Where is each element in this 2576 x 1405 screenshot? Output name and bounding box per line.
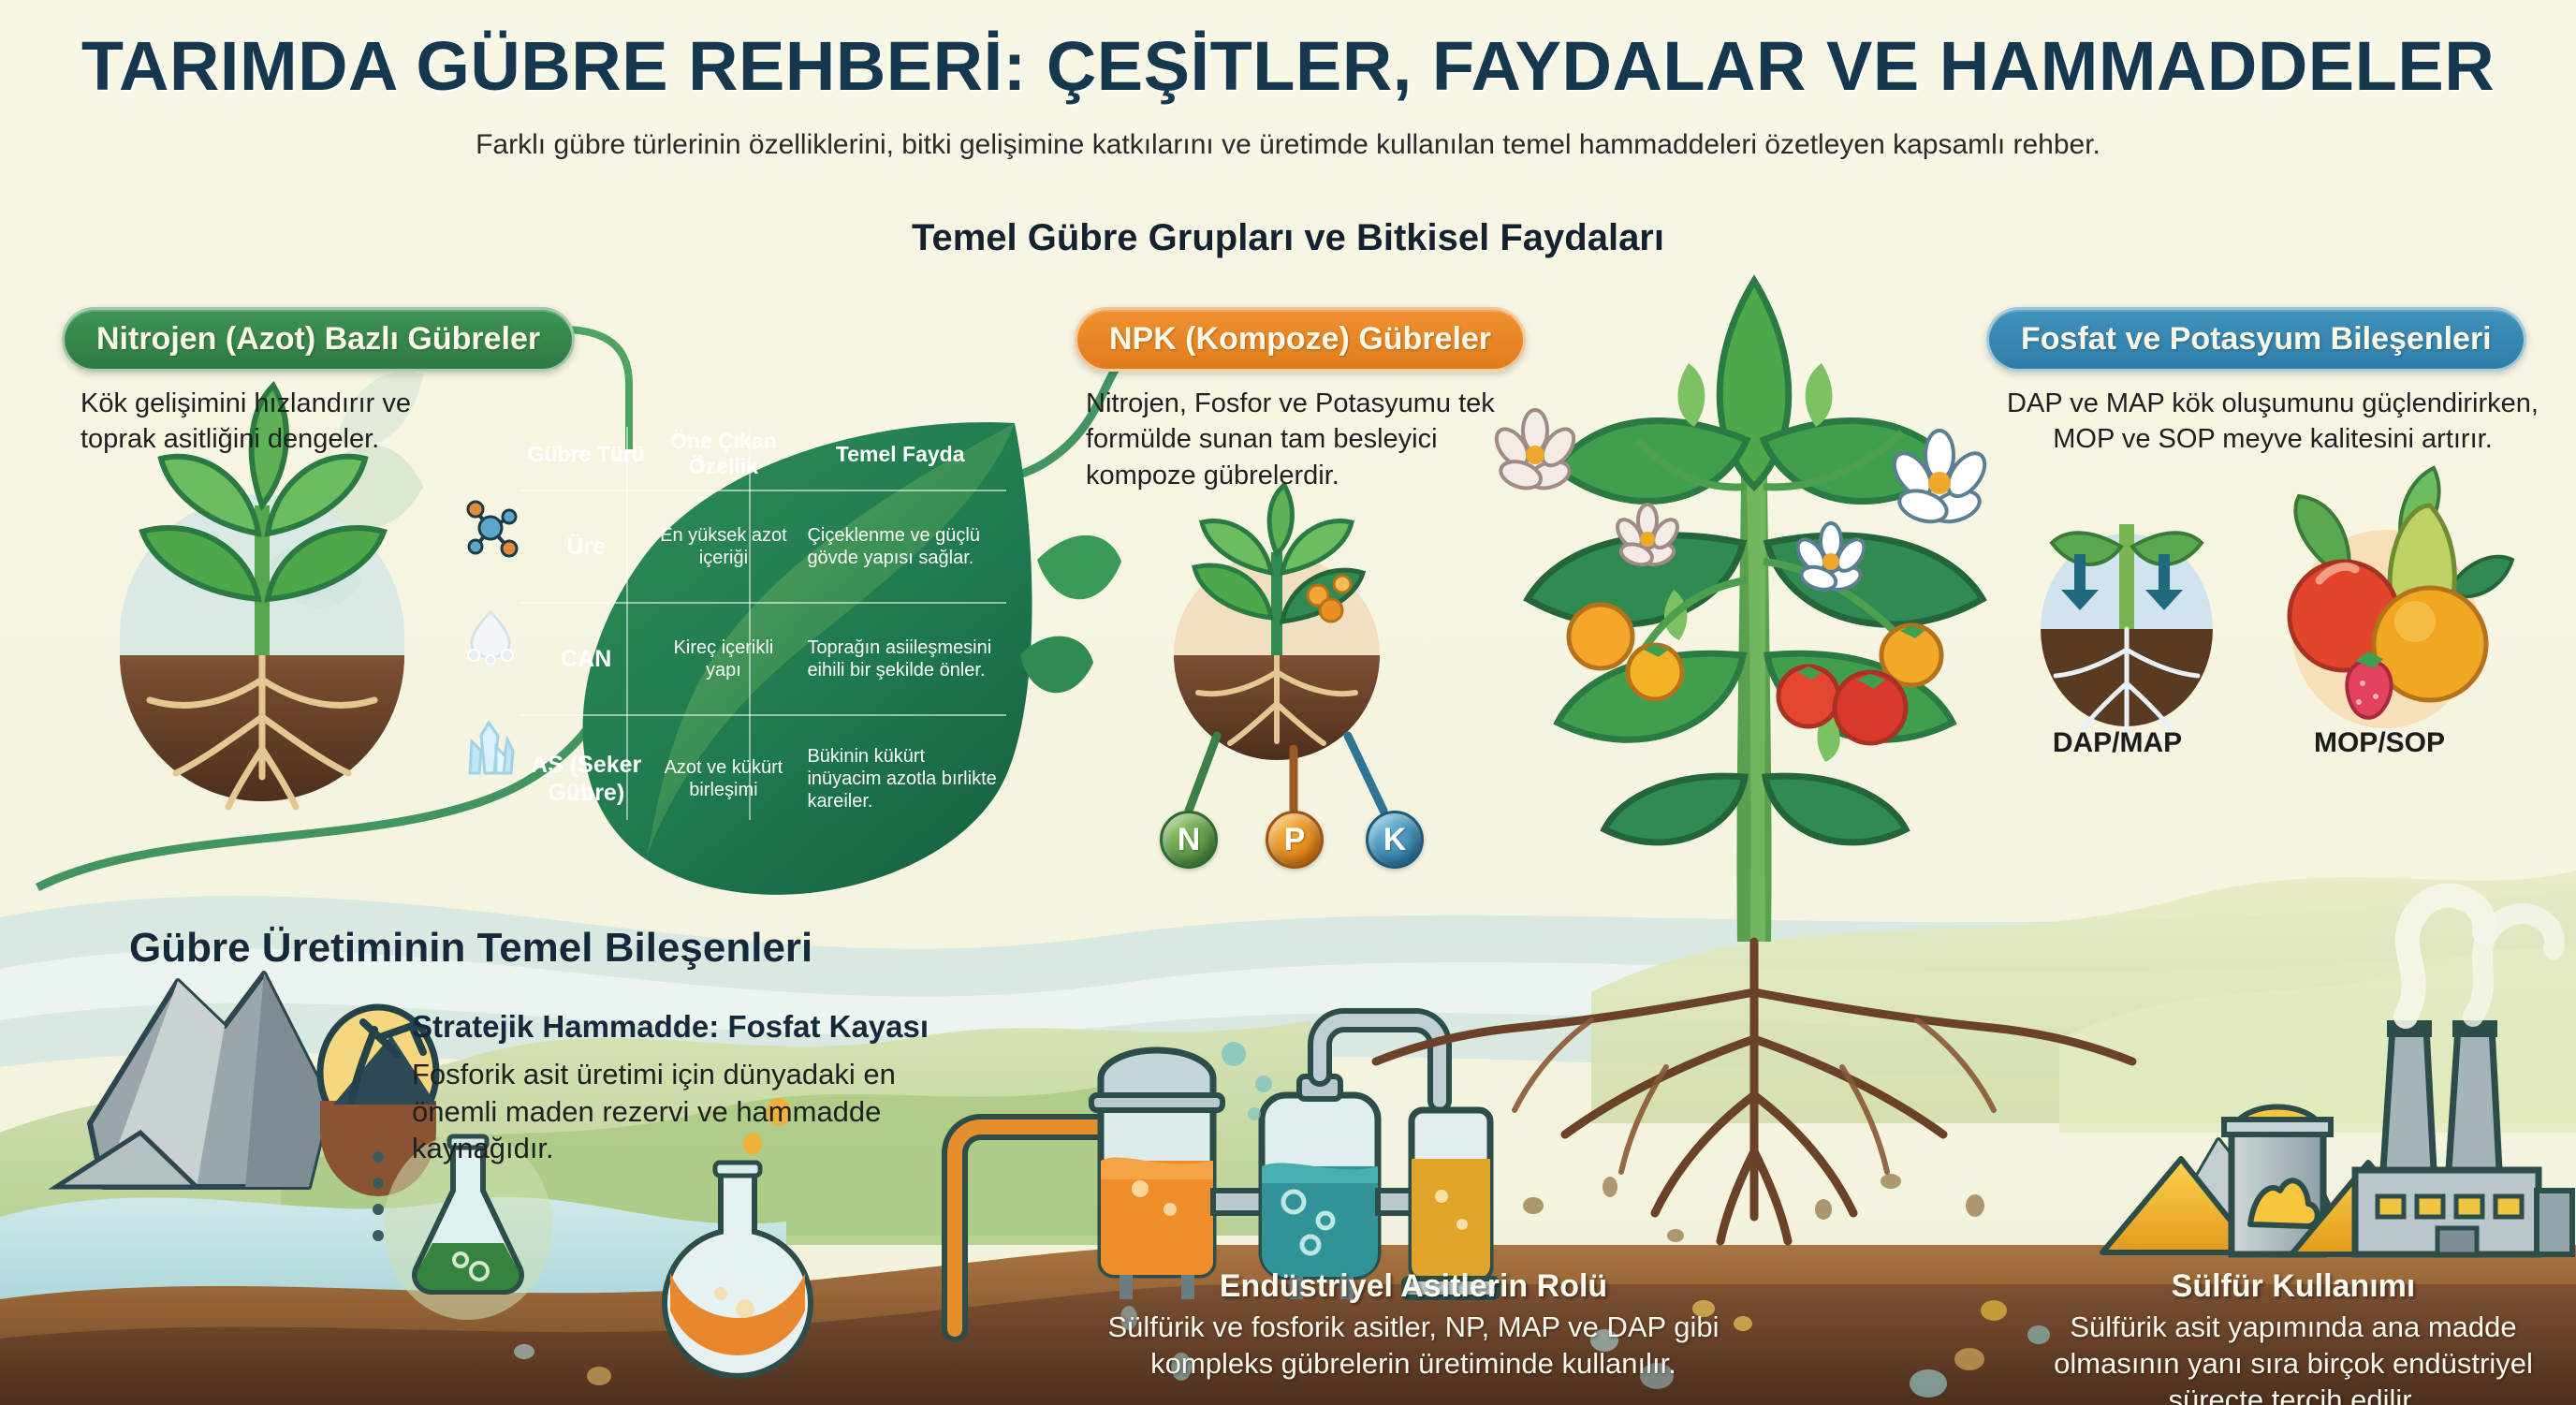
granule-icon [461,605,520,665]
blurb-npk: Nitrojen, Fosfor ve Potasyumu tek formül… [1086,386,1535,493]
table-row: AS (Şeker Gübre) [520,714,652,841]
table-header-feature: Öne Çıkan Özellik [652,419,794,490]
page-title: TARIMDA GÜBRE REHBERİ: ÇEŞİTLER, FAYDALA… [0,26,2576,106]
infographic-canvas: TARIMDA GÜBRE REHBERİ: ÇEŞİTLER, FAYDALA… [0,0,2576,1405]
background-scene [0,0,2576,1405]
table-cell-feature: Azot ve kükürt birleşimi [652,714,794,841]
bar-sulfur-usage: Sülfür Kullanımı Sülfürik asit yapımında… [2003,1268,2576,1405]
table-cell-benefit: Çiçeklenme ve güçlü gövde yapısı sağlar. [794,490,1006,602]
table-cell-feature: En yüksek azot içeriği [652,490,794,602]
crystal-icon [461,719,520,779]
blurb-nitrogen: Kök gelişimini hızlandırır ve toprak asi… [80,386,483,458]
bar-body: Sülfürik asit yapımında ana madde olması… [2003,1309,2576,1405]
raw-material-body: Fosforik asit üretimi için dünyadaki en … [412,1056,899,1167]
table-cell-feature: Kireç içerikli yapı [652,602,794,714]
npk-badge-k[interactable]: K [1366,811,1424,869]
bar-title: Sülfür Kullanımı [2003,1268,2576,1305]
table-row: CAN [520,602,652,714]
table-header-type: Gübre Türü [520,419,652,490]
bar-title: Endüstriyel Asitlerin Rolü [1076,1268,1750,1305]
bar-industrial-acids: Endüstriyel Asitlerin Rolü Sülfürik ve f… [1076,1268,1750,1382]
molecule-icon [461,498,520,558]
pill-npk[interactable]: NPK (Kompoze) Gübreler [1075,307,1526,372]
production-heading: Gübre Üretiminin Temel Bileşenleri [129,925,812,972]
npk-badge-n[interactable]: N [1160,811,1218,869]
table-divider [749,427,751,820]
table-row: Üre [520,490,652,602]
section-heading: Temel Gübre Grupları ve Bitkisel Faydala… [0,217,2576,259]
npk-badge-p[interactable]: P [1266,811,1324,869]
table-cell-benefit: Toprağın asiileşmesini eihili bir şekild… [794,602,1006,714]
label-dap-map: DAP/MAP [2014,727,2220,759]
table-divider [626,427,628,820]
blurb-phosphate: DAP ve MAP kök oluşumunu güçlendirirken,… [1992,386,2554,458]
bar-body: Sülfürik ve fosforik asitler, NP, MAP ve… [1076,1309,1750,1382]
fertilizer-table: Gübre Türü Öne Çıkan Özellik Temel Fayda… [449,393,1048,861]
table-cell-benefit: Bükinin kükürt inüyacim azotla bırlikte … [794,714,1006,841]
raw-material-title: Stratejik Hammadde: Fosfat Kayası [412,1009,929,1045]
pill-phosphate[interactable]: Fosfat ve Potasyum Bileşenleri [1986,307,2526,372]
table-header-benefit: Temel Fayda [794,419,1006,490]
page-subtitle: Farklı gübre türlerinin özelliklerini, b… [0,129,2576,161]
pill-nitrogen[interactable]: Nitrojen (Azot) Bazlı Gübreler [62,307,575,372]
label-mop-sop: MOP/SOP [2276,727,2482,759]
